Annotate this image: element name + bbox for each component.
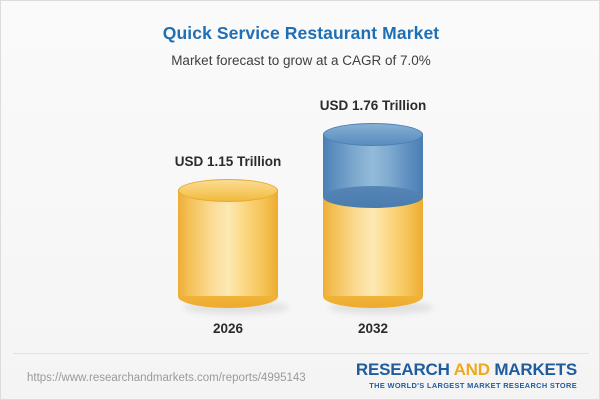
category-label-2026: 2026	[178, 321, 278, 336]
logo-tagline: THE WORLD'S LARGEST MARKET RESEARCH STOR…	[356, 381, 577, 390]
bar-2032[interactable]	[323, 123, 423, 308]
chart-card: Quick Service Restaurant Market Market f…	[0, 0, 600, 400]
bar-2026-body	[178, 190, 278, 296]
bar-2032-growth-base-ellipse	[323, 186, 423, 208]
bar-2026[interactable]	[178, 179, 278, 308]
data-label-2026: USD 1.15 Trillion	[128, 154, 328, 169]
bar-2026-top-ellipse	[178, 179, 278, 202]
research-and-markets-logo[interactable]: RESEARCH AND MARKETS THE WORLD'S LARGEST…	[356, 361, 577, 390]
logo-word-and: AND	[454, 360, 490, 379]
data-label-2032: USD 1.76 Trillion	[273, 98, 473, 113]
bar-2032-base-body	[323, 197, 423, 296]
category-label-2032: 2032	[323, 321, 423, 336]
logo-word-markets: MARKETS	[490, 360, 577, 379]
logo-word-research: RESEARCH	[356, 360, 454, 379]
source-url[interactable]: https://www.researchandmarkets.com/repor…	[27, 372, 306, 384]
bar-2032-top-ellipse	[323, 123, 423, 146]
logo-wordmark: RESEARCH AND MARKETS	[356, 361, 577, 379]
footer-divider	[13, 353, 589, 354]
chart-plot-area: USD 1.15 Trillion USD 1.76 Trillion 2026…	[1, 1, 600, 400]
